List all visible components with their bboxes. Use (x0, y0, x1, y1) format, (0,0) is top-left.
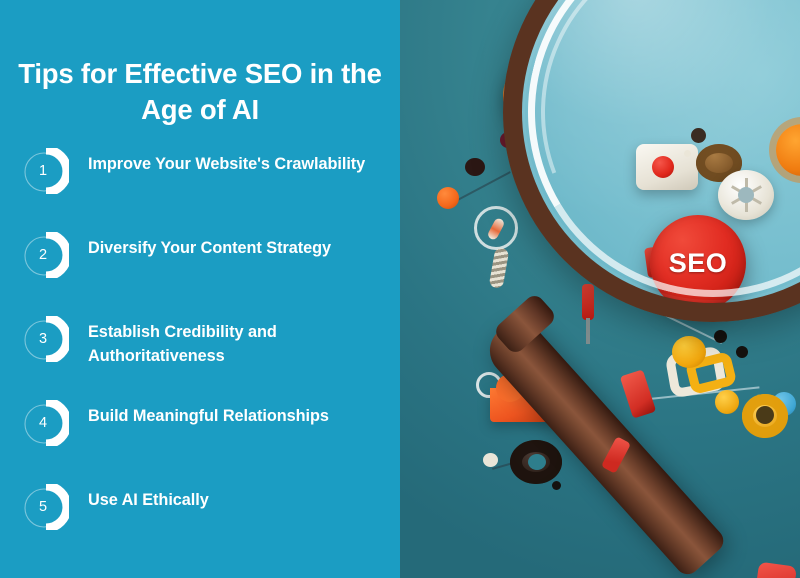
dark-dot (465, 158, 485, 176)
step-badge-1: 1 (23, 148, 69, 194)
white-dot (483, 453, 498, 467)
step-badge-5: 5 (23, 484, 69, 530)
tape-roll-hole (528, 454, 546, 470)
list-item[interactable]: 2 Diversify Your Content Strategy (0, 232, 400, 316)
list-item-label: Establish Credibility and Authoritativen… (88, 321, 378, 369)
list-item[interactable]: 1 Improve Your Website's Crawlability (0, 148, 400, 232)
hero-illustration: SEO (400, 0, 800, 578)
step-badge-4: 4 (23, 400, 69, 446)
step-number: 3 (23, 316, 63, 362)
list-item[interactable]: 4 Build Meaningful Relationships (0, 400, 400, 484)
wire-node (552, 481, 561, 490)
step-number: 5 (23, 484, 63, 530)
yellow-puck (715, 390, 739, 414)
infographic-canvas: Tips for Effective SEO in the Age of AI … (0, 0, 800, 578)
page-title: Tips for Effective SEO in the Age of AI (0, 56, 400, 126)
step-number: 4 (23, 400, 63, 446)
step-number: 2 (23, 232, 63, 278)
list-item-label: Diversify Your Content Strategy (88, 237, 378, 261)
red-tag-icon (753, 562, 797, 578)
tips-list: 1 Improve Your Website's Crawlability 2 … (0, 148, 400, 568)
left-content-panel: Tips for Effective SEO in the Age of AI … (0, 0, 400, 578)
wire-node (736, 346, 748, 358)
step-badge-3: 3 (23, 316, 69, 362)
orange-dot (437, 187, 459, 209)
yellow-puck (672, 336, 706, 368)
list-item[interactable]: 3 Establish Credibility and Authoritativ… (0, 316, 400, 400)
step-number: 1 (23, 148, 63, 194)
list-item-label: Improve Your Website's Crawlability (88, 153, 378, 177)
coil-icon (489, 247, 510, 289)
red-cylinder-stem (586, 318, 590, 344)
wire-node (714, 330, 727, 343)
gold-roll-hole (756, 406, 774, 424)
red-cylinder-icon (582, 284, 594, 320)
list-item-label: Use AI Ethically (88, 489, 378, 513)
list-item[interactable]: 5 Use AI Ethically (0, 484, 400, 568)
list-item-label: Build Meaningful Relationships (88, 405, 378, 429)
red-strip-icon (620, 369, 656, 418)
magnifier-rim-highlight (482, 0, 800, 343)
step-badge-2: 2 (23, 232, 69, 278)
